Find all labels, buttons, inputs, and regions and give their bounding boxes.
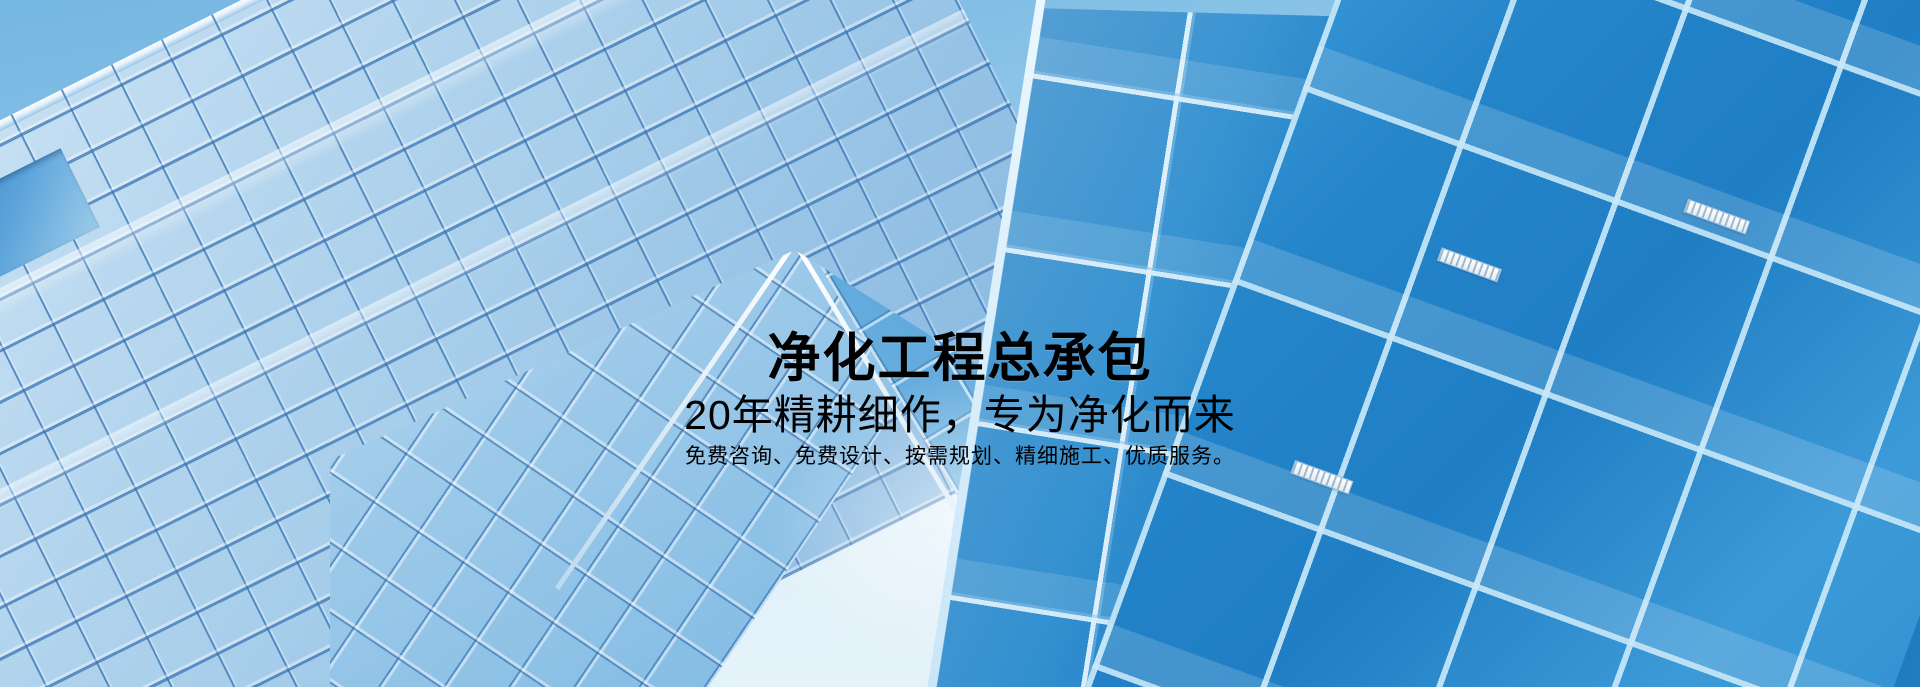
hero-tagline: 免费咨询、免费设计、按需规划、精细施工、优质服务。 [0, 444, 1920, 470]
hero-title: 净化工程总承包 [0, 330, 1920, 387]
hero-banner: 净化工程总承包 20年精耕细作，专为净化而来 免费咨询、免费设计、按需规划、精细… [0, 0, 1920, 687]
hero-copy-block: 净化工程总承包 20年精耕细作，专为净化而来 免费咨询、免费设计、按需规划、精细… [0, 330, 1920, 471]
hero-subtitle: 20年精耕细作，专为净化而来 [0, 393, 1920, 438]
